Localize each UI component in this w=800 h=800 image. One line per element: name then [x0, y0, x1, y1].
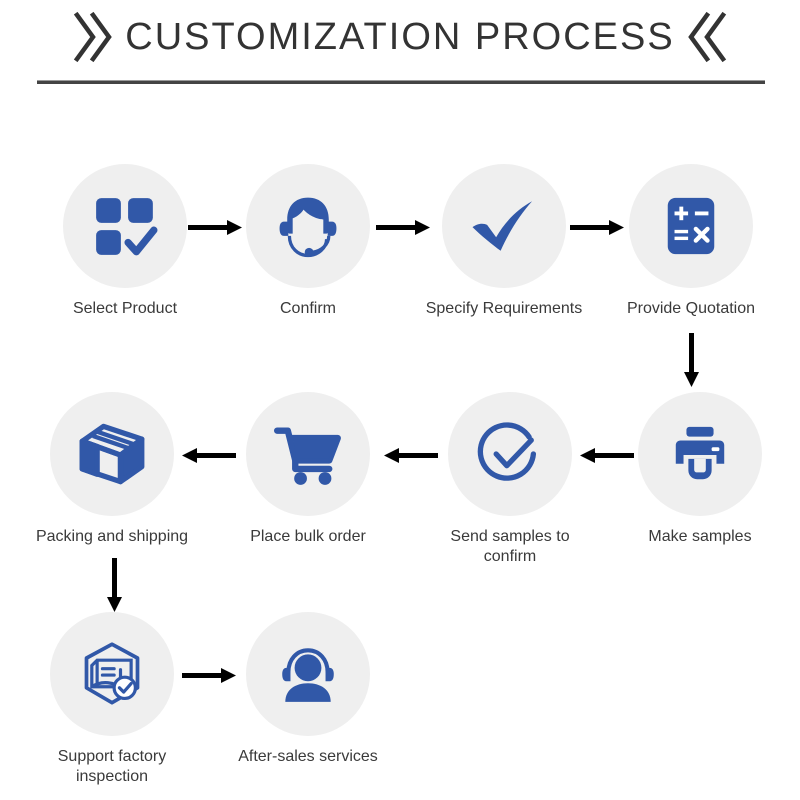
step-node-packing-and-shipping[interactable]: Packing and shipping — [32, 392, 192, 547]
step-node-send-samples-to-confirm[interactable]: Send samples to confirm — [430, 392, 590, 567]
headset-agent-icon — [273, 191, 343, 261]
headphones-person-icon — [275, 641, 341, 707]
step-node-make-samples[interactable]: Make samples — [620, 392, 780, 547]
checkmark-bold-icon — [468, 190, 540, 262]
step-icon-circle — [50, 392, 174, 516]
title-row: CUSTOMIZATION PROCESS — [0, 6, 800, 68]
factory-inspection-badge-icon — [78, 640, 146, 708]
step-icon-circle — [63, 164, 187, 288]
step-icon-circle — [448, 392, 572, 516]
step-node-specify-requirements[interactable]: Specify Requirements — [424, 164, 584, 319]
process-diagram-canvas: CUSTOMIZATION PROCESS Select Pro — [0, 0, 800, 800]
step-icon-circle — [246, 612, 370, 736]
package-box-icon — [78, 420, 146, 488]
shopping-cart-icon — [274, 420, 342, 488]
title-divider — [37, 80, 765, 84]
page-title: CUSTOMIZATION PROCESS — [125, 16, 674, 59]
arrow-step8-step9-icon — [105, 558, 125, 614]
grid-squares-check-icon — [92, 193, 158, 259]
step-label: Support factory inspection — [32, 747, 192, 787]
step-label: Place bulk order — [228, 527, 388, 547]
step-label: After-sales services — [228, 747, 388, 767]
printer-icon — [669, 423, 731, 485]
step-label: Make samples — [620, 527, 780, 547]
step-node-provide-quotation[interactable]: Provide Quotation — [611, 164, 771, 319]
step-label: Select Product — [45, 299, 205, 319]
step-icon-circle — [246, 392, 370, 516]
step-icon-circle — [629, 164, 753, 288]
step-icon-circle — [638, 392, 762, 516]
step-label: Provide Quotation — [611, 299, 771, 319]
step-icon-circle — [442, 164, 566, 288]
arrow-step4-step5-icon — [682, 333, 702, 389]
step-label: Confirm — [228, 299, 388, 319]
step-label: Packing and shipping — [32, 527, 192, 547]
step-node-place-bulk-order[interactable]: Place bulk order — [228, 392, 388, 547]
diagram-header: CUSTOMIZATION PROCESS — [0, 6, 800, 68]
step-node-confirm[interactable]: Confirm — [228, 164, 388, 319]
circle-check-outline-icon — [476, 420, 544, 488]
step-label: Send samples to confirm — [430, 527, 590, 567]
step-label: Specify Requirements — [424, 299, 584, 319]
step-node-support-factory-inspection[interactable]: Support factory inspection — [32, 612, 192, 787]
double-chevron-right-icon — [71, 11, 115, 63]
calculator-icon — [660, 195, 722, 257]
step-node-select-product[interactable]: Select Product — [45, 164, 205, 319]
step-icon-circle — [246, 164, 370, 288]
step-icon-circle — [50, 612, 174, 736]
step-node-after-sales-services[interactable]: After-sales services — [228, 612, 388, 767]
double-chevron-left-icon — [685, 11, 729, 63]
